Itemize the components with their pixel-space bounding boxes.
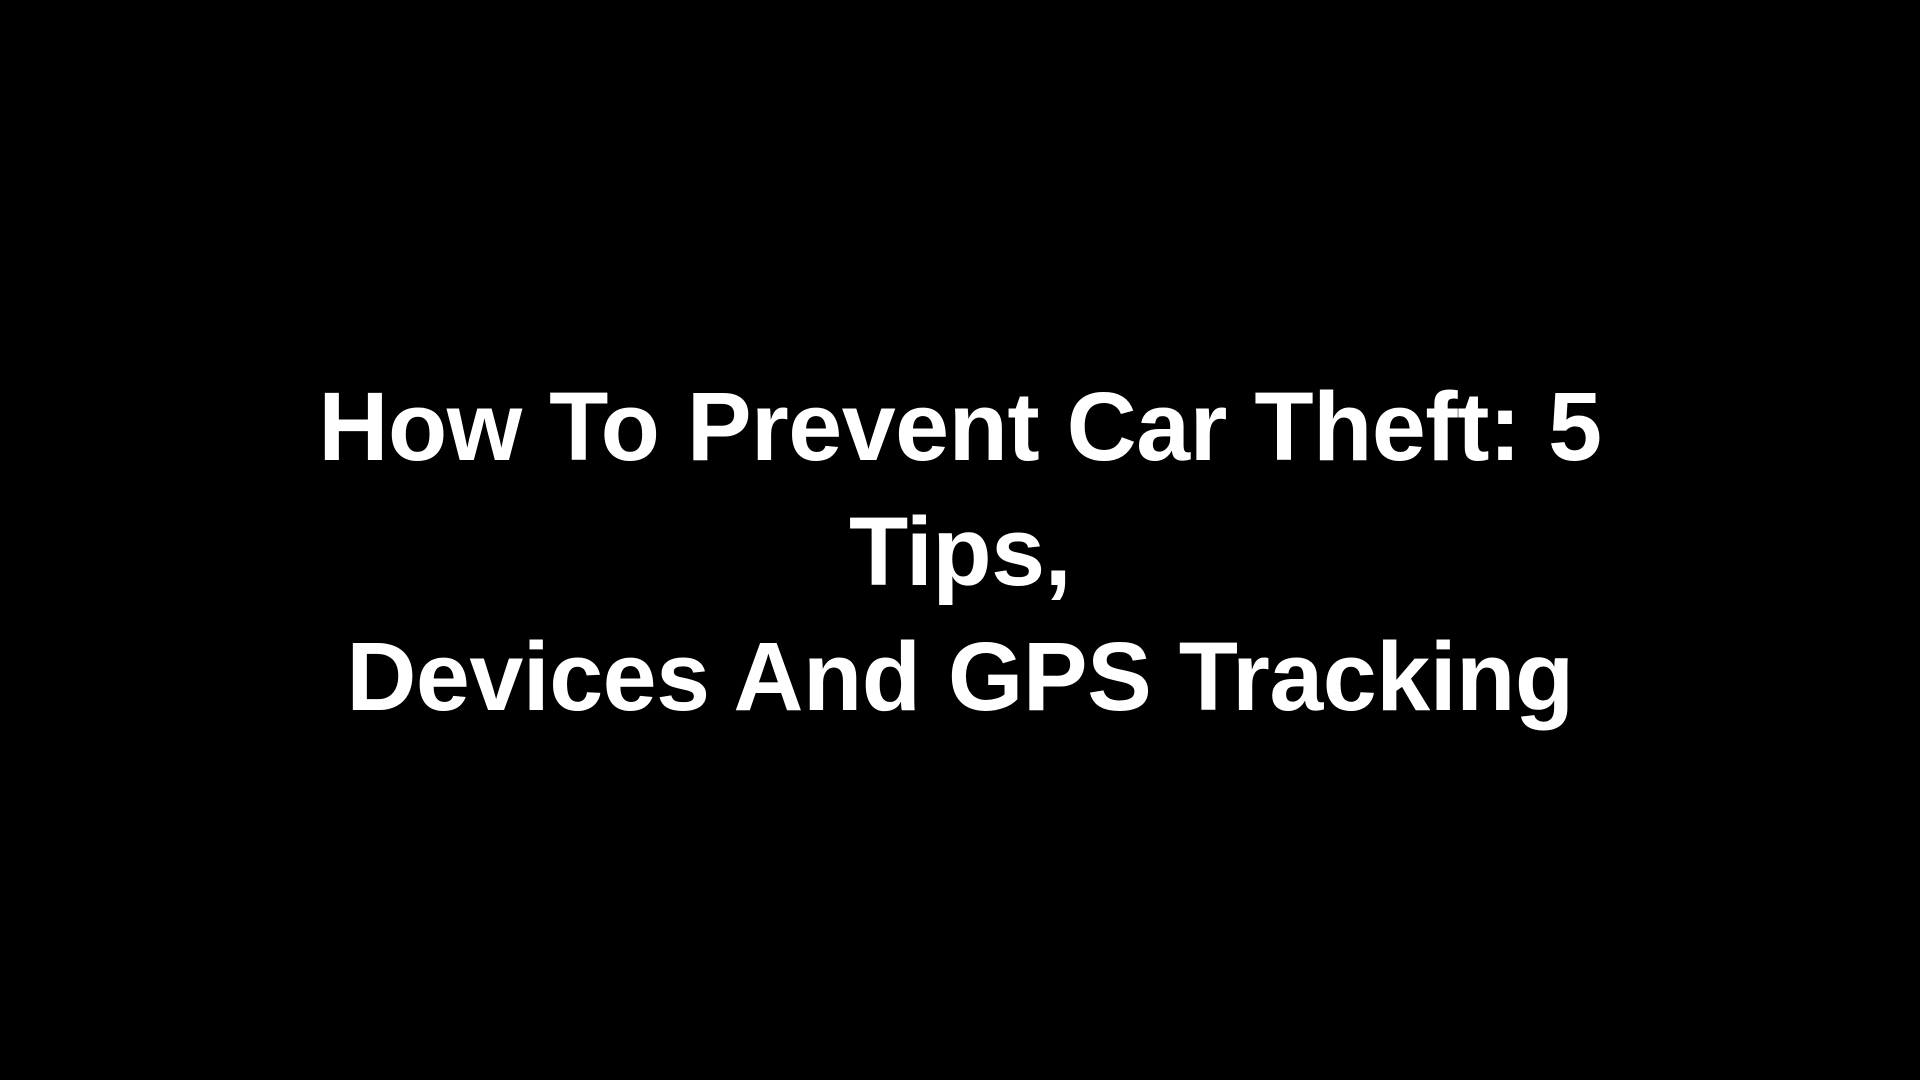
title-card-slate: How To Prevent Car Theft: 5 Tips, Device… [0,0,1920,1080]
title-block: How To Prevent Car Theft: 5 Tips, Device… [110,364,1810,739]
title-line-1: How To Prevent Car Theft: 5 Tips, [220,364,1700,614]
title-line-2: Devices And GPS Tracking [220,614,1700,739]
page-title: How To Prevent Car Theft: 5 Tips, Device… [220,364,1700,739]
